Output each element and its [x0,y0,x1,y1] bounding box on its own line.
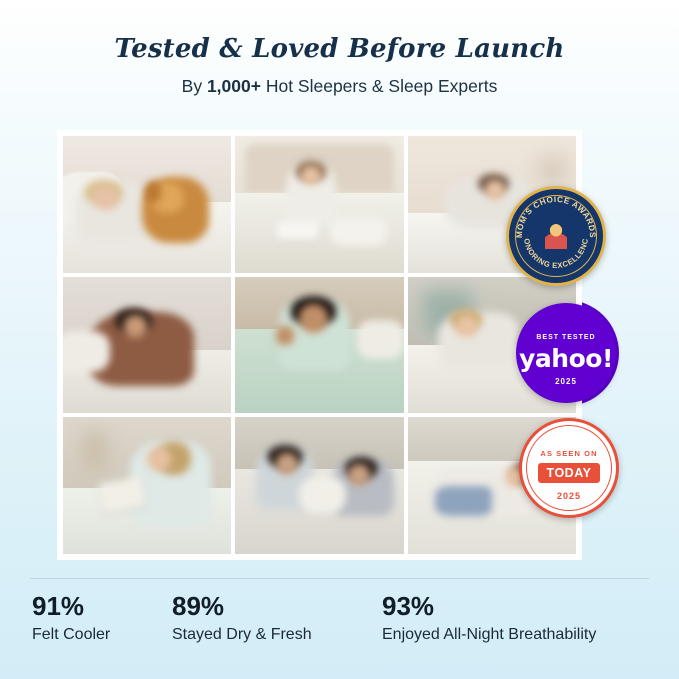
photo-couple-on-bed [235,417,403,554]
page-title: Tested & Loved Before Launch [0,34,679,64]
photo-grid [63,136,576,554]
photo-woman-peace-sign [235,277,403,414]
moms-choice-awards-badge: MOM'S CHOICE AWARDS HONORING EXCELLENCE [506,186,606,286]
as-seen-on-today-badge: AS SEEN ON TODAY 2025 [519,418,619,518]
stat-value: 93% [382,592,596,622]
subtitle-prefix: By [182,76,207,96]
yahoo-wordmark: yahoo! [519,346,613,371]
page-subtitle: By 1,000+ Hot Sleepers & Sleep Experts [0,76,679,97]
stats-divider [30,578,649,579]
subtitle-suffix: Hot Sleepers & Sleep Experts [261,76,497,96]
stats-row: 91% Felt Cooler 89% Stayed Dry & Fresh 9… [32,592,655,644]
photo-collage [57,130,582,560]
mca-arc-text: MOM'S CHOICE AWARDS HONORING EXCELLENCE [509,189,603,283]
stat-label: Felt Cooler [32,626,172,644]
stat-value: 91% [32,592,172,622]
stat-label: Stayed Dry & Fresh [172,626,382,644]
photo-woman-on-phone [63,277,231,414]
subtitle-highlight: 1,000+ [207,76,261,96]
stat-label: Enjoyed All-Night Breathability [382,626,596,644]
yahoo-badge-year: 2025 [555,377,577,386]
stat-item: 93% Enjoyed All-Night Breathability [382,592,596,644]
stat-item: 91% Felt Cooler [32,592,172,644]
yahoo-best-tested-badge: BEST TESTED yahoo! 2025 [516,303,616,403]
stat-value: 89% [172,592,382,622]
photo-woman-with-dog [63,136,231,273]
today-inner-ring [526,425,612,511]
svg-text:MOM'S CHOICE AWARDS: MOM'S CHOICE AWARDS [515,195,597,238]
header: Tested & Loved Before Launch By 1,000+ H… [0,0,679,97]
stat-item: 89% Stayed Dry & Fresh [172,592,382,644]
photo-woman-reading [63,417,231,554]
yahoo-badge-top-text: BEST TESTED [536,334,595,341]
photo-woman-with-tray [235,136,403,273]
